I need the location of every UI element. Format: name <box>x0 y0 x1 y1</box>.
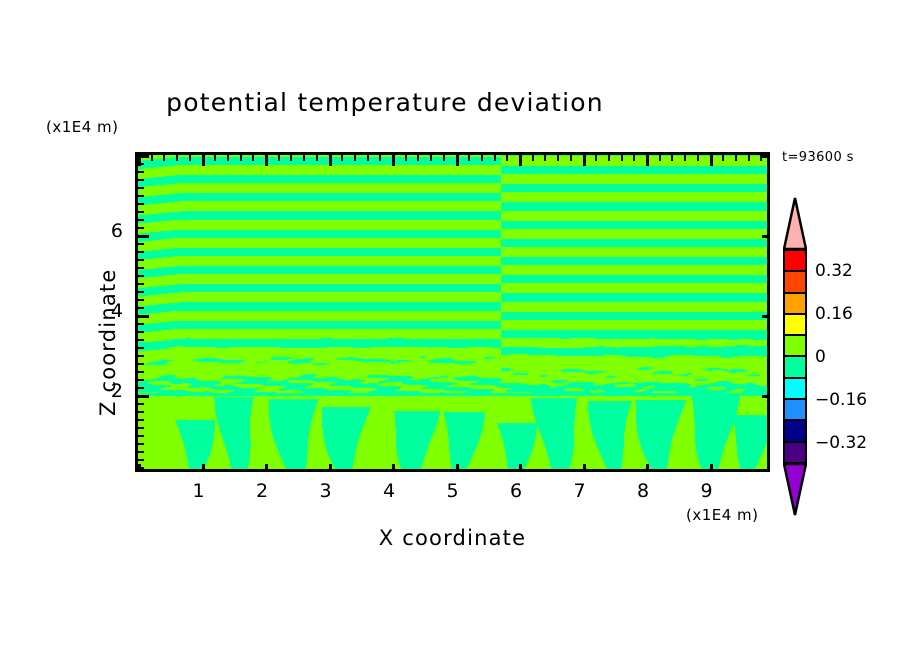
x-minor-tick <box>621 155 623 161</box>
x-minor-tick <box>506 469 508 472</box>
x-minor-tick <box>481 469 483 472</box>
y-minor-tick <box>767 259 770 261</box>
x-major-tick <box>456 464 459 472</box>
y-minor-tick <box>138 419 144 421</box>
x-minor-tick <box>468 469 470 472</box>
x-tick-label: 1 <box>184 480 214 502</box>
y-minor-tick <box>138 275 144 277</box>
y-minor-tick <box>138 387 144 389</box>
y-minor-tick <box>767 275 770 277</box>
y-minor-tick <box>138 283 144 285</box>
y-tick-label: 6 <box>89 220 123 242</box>
colorbar-band <box>785 357 805 378</box>
contour-canvas <box>138 155 770 472</box>
colorbar-band <box>785 379 805 400</box>
y-minor-tick <box>767 347 770 349</box>
x-minor-tick <box>189 469 191 472</box>
y-minor-tick <box>767 451 770 453</box>
y-minor-tick <box>138 323 144 325</box>
x-minor-tick <box>544 469 546 472</box>
x-major-tick <box>710 155 713 166</box>
y-minor-tick <box>138 251 144 253</box>
colorbar-band <box>785 294 805 315</box>
x-minor-tick <box>481 155 483 161</box>
y-minor-tick <box>767 283 770 285</box>
y-minor-tick <box>767 331 770 333</box>
colorbar-band <box>785 272 805 293</box>
y-major-tick <box>138 395 149 398</box>
y-minor-tick <box>767 299 770 301</box>
x-minor-tick <box>557 469 559 472</box>
colorbar-bands <box>783 249 807 464</box>
y-minor-tick <box>767 267 770 269</box>
x-major-tick <box>456 155 459 166</box>
x-minor-tick <box>163 155 165 161</box>
x-minor-tick <box>379 469 381 472</box>
y-minor-tick <box>138 411 144 413</box>
x-minor-tick <box>151 469 153 472</box>
x-minor-tick <box>748 469 750 472</box>
y-minor-tick <box>138 219 144 221</box>
y-major-tick <box>762 235 770 238</box>
y-minor-tick <box>138 195 144 197</box>
x-minor-tick <box>570 155 572 161</box>
y-minor-tick <box>767 443 770 445</box>
colorbar: 0.320.160−0.16−0.32 <box>783 197 807 512</box>
y-minor-tick <box>138 347 144 349</box>
y-minor-tick <box>767 387 770 389</box>
x-minor-tick <box>494 155 496 161</box>
y-minor-tick <box>138 171 144 173</box>
x-minor-tick <box>354 155 356 161</box>
y-minor-tick <box>767 219 770 221</box>
y-minor-tick <box>767 411 770 413</box>
x-minor-tick <box>227 155 229 161</box>
x-minor-tick <box>570 469 572 472</box>
x-minor-tick <box>697 155 699 161</box>
y-minor-tick <box>767 371 770 373</box>
x-minor-tick <box>735 469 737 472</box>
x-major-tick <box>265 155 268 166</box>
x-major-tick <box>265 464 268 472</box>
y-minor-tick <box>767 403 770 405</box>
colorbar-label: 0.16 <box>815 304 853 324</box>
y-minor-tick <box>767 339 770 341</box>
x-major-tick <box>202 155 205 166</box>
y-minor-tick <box>138 299 144 301</box>
y-minor-tick <box>138 203 144 205</box>
y-minor-tick <box>138 363 144 365</box>
y-minor-tick <box>767 435 770 437</box>
y-minor-tick <box>138 403 144 405</box>
x-minor-tick <box>417 155 419 161</box>
x-tick-label: 6 <box>501 480 531 502</box>
y-minor-tick <box>138 451 144 453</box>
y-axis-units-label: (x1E4 m) <box>46 118 119 136</box>
y-minor-tick <box>767 203 770 205</box>
x-major-tick <box>519 464 522 472</box>
y-minor-tick <box>138 187 144 189</box>
x-tick-label: 2 <box>247 480 277 502</box>
y-tick-label: 4 <box>89 300 123 322</box>
x-minor-tick <box>316 155 318 161</box>
y-minor-tick <box>138 379 144 381</box>
x-minor-tick <box>227 469 229 472</box>
y-minor-tick <box>767 171 770 173</box>
x-tick-label: 4 <box>374 480 404 502</box>
y-minor-tick <box>138 331 144 333</box>
y-minor-tick <box>767 379 770 381</box>
y-minor-tick <box>138 443 144 445</box>
x-minor-tick <box>278 469 280 472</box>
x-major-tick <box>519 155 522 166</box>
x-minor-tick <box>722 155 724 161</box>
y-minor-tick <box>138 307 144 309</box>
x-minor-tick <box>684 155 686 161</box>
y-minor-tick <box>138 163 144 165</box>
x-minor-tick <box>760 469 762 472</box>
x-major-tick <box>392 464 395 472</box>
y-major-tick <box>138 235 149 238</box>
colorbar-under-arrow <box>783 463 807 516</box>
y-minor-tick <box>767 291 770 293</box>
y-minor-tick <box>767 211 770 213</box>
y-minor-tick <box>767 195 770 197</box>
y-minor-tick <box>138 467 144 469</box>
x-tick-label: 8 <box>628 480 658 502</box>
x-minor-tick <box>163 469 165 472</box>
y-minor-tick <box>138 371 144 373</box>
x-minor-tick <box>621 469 623 472</box>
colorbar-label: 0 <box>815 347 826 367</box>
x-minor-tick <box>595 155 597 161</box>
colorbar-band <box>785 315 805 336</box>
x-minor-tick <box>151 155 153 161</box>
x-major-tick <box>710 464 713 472</box>
x-minor-tick <box>532 155 534 161</box>
x-axis-title: X coordinate <box>135 526 770 550</box>
y-minor-tick <box>138 179 144 181</box>
x-minor-tick <box>735 155 737 161</box>
y-minor-tick <box>767 459 770 461</box>
x-minor-tick <box>443 155 445 161</box>
colorbar-band <box>785 443 805 462</box>
x-major-tick <box>329 464 332 472</box>
y-major-tick <box>762 315 770 318</box>
y-minor-tick <box>767 427 770 429</box>
y-major-tick <box>762 395 770 398</box>
colorbar-band <box>785 251 805 272</box>
x-minor-tick <box>722 469 724 472</box>
x-minor-tick <box>252 469 254 472</box>
x-minor-tick <box>240 469 242 472</box>
y-major-tick <box>762 155 770 158</box>
x-minor-tick <box>341 155 343 161</box>
chart-title: potential temperature deviation <box>0 88 770 117</box>
x-minor-tick <box>633 469 635 472</box>
x-tick-label: 7 <box>565 480 595 502</box>
x-minor-tick <box>316 469 318 472</box>
x-minor-tick <box>659 155 661 161</box>
y-minor-tick <box>767 323 770 325</box>
x-minor-tick <box>405 469 407 472</box>
x-minor-tick <box>671 155 673 161</box>
x-minor-tick <box>367 469 369 472</box>
x-major-tick <box>646 155 649 166</box>
x-minor-tick <box>176 469 178 472</box>
x-major-tick <box>392 155 395 166</box>
x-major-tick <box>583 464 586 472</box>
y-minor-tick <box>138 291 144 293</box>
x-minor-tick <box>214 469 216 472</box>
colorbar-band <box>785 400 805 421</box>
x-minor-tick <box>671 469 673 472</box>
y-minor-tick <box>767 251 770 253</box>
x-minor-tick <box>303 469 305 472</box>
x-minor-tick <box>557 155 559 161</box>
x-minor-tick <box>684 469 686 472</box>
x-minor-tick <box>379 155 381 161</box>
x-minor-tick <box>367 155 369 161</box>
y-minor-tick <box>767 355 770 357</box>
y-minor-tick <box>767 243 770 245</box>
x-tick-label: 3 <box>311 480 341 502</box>
colorbar-label: −0.32 <box>815 433 867 453</box>
y-minor-tick <box>138 427 144 429</box>
y-minor-tick <box>138 435 144 437</box>
x-minor-tick <box>278 155 280 161</box>
x-tick-label: 5 <box>438 480 468 502</box>
x-minor-tick <box>659 469 661 472</box>
y-minor-tick <box>138 339 144 341</box>
x-axis-units-label: (x1E4 m) <box>686 506 759 524</box>
x-minor-tick <box>748 155 750 161</box>
x-minor-tick <box>608 155 610 161</box>
x-minor-tick <box>468 155 470 161</box>
x-minor-tick <box>417 469 419 472</box>
y-minor-tick <box>767 307 770 309</box>
x-minor-tick <box>341 469 343 472</box>
x-minor-tick <box>608 469 610 472</box>
x-minor-tick <box>290 155 292 161</box>
y-minor-tick <box>767 179 770 181</box>
y-major-tick <box>138 155 149 158</box>
y-minor-tick <box>767 187 770 189</box>
x-minor-tick <box>354 469 356 472</box>
colorbar-label: −0.16 <box>815 390 867 410</box>
contour-plot-area <box>135 152 770 472</box>
y-minor-tick <box>138 459 144 461</box>
y-minor-tick <box>138 227 144 229</box>
y-minor-tick <box>138 211 144 213</box>
y-minor-tick <box>767 467 770 469</box>
x-minor-tick <box>544 155 546 161</box>
x-minor-tick <box>430 155 432 161</box>
x-tick-label: 9 <box>692 480 722 502</box>
x-minor-tick <box>290 469 292 472</box>
x-minor-tick <box>506 155 508 161</box>
x-minor-tick <box>697 469 699 472</box>
y-minor-tick <box>138 267 144 269</box>
x-minor-tick <box>405 155 407 161</box>
x-major-tick <box>646 464 649 472</box>
y-minor-tick <box>767 227 770 229</box>
y-minor-tick <box>138 243 144 245</box>
y-minor-tick <box>767 363 770 365</box>
colorbar-band <box>785 336 805 357</box>
x-minor-tick <box>252 155 254 161</box>
colorbar-band <box>785 421 805 442</box>
colorbar-label: 0.32 <box>815 261 853 281</box>
x-major-tick <box>583 155 586 166</box>
y-minor-tick <box>138 259 144 261</box>
figure-canvas: potential temperature deviation (x1E4 m)… <box>0 0 904 654</box>
x-minor-tick <box>494 469 496 472</box>
x-major-tick <box>329 155 332 166</box>
y-minor-tick <box>138 355 144 357</box>
x-minor-tick <box>443 469 445 472</box>
x-minor-tick <box>240 155 242 161</box>
x-major-tick <box>202 464 205 472</box>
y-tick-label: 2 <box>89 380 123 402</box>
x-minor-tick <box>595 469 597 472</box>
colorbar-over-arrow <box>783 197 807 250</box>
x-minor-tick <box>633 155 635 161</box>
y-major-tick <box>138 315 149 318</box>
x-minor-tick <box>532 469 534 472</box>
x-minor-tick <box>430 469 432 472</box>
x-minor-tick <box>176 155 178 161</box>
x-minor-tick <box>303 155 305 161</box>
x-minor-tick <box>214 155 216 161</box>
y-minor-tick <box>767 419 770 421</box>
timestamp-annotation: t=93600 s <box>782 150 854 165</box>
contour-field <box>138 155 767 469</box>
y-minor-tick <box>767 163 770 165</box>
x-minor-tick <box>189 155 191 161</box>
